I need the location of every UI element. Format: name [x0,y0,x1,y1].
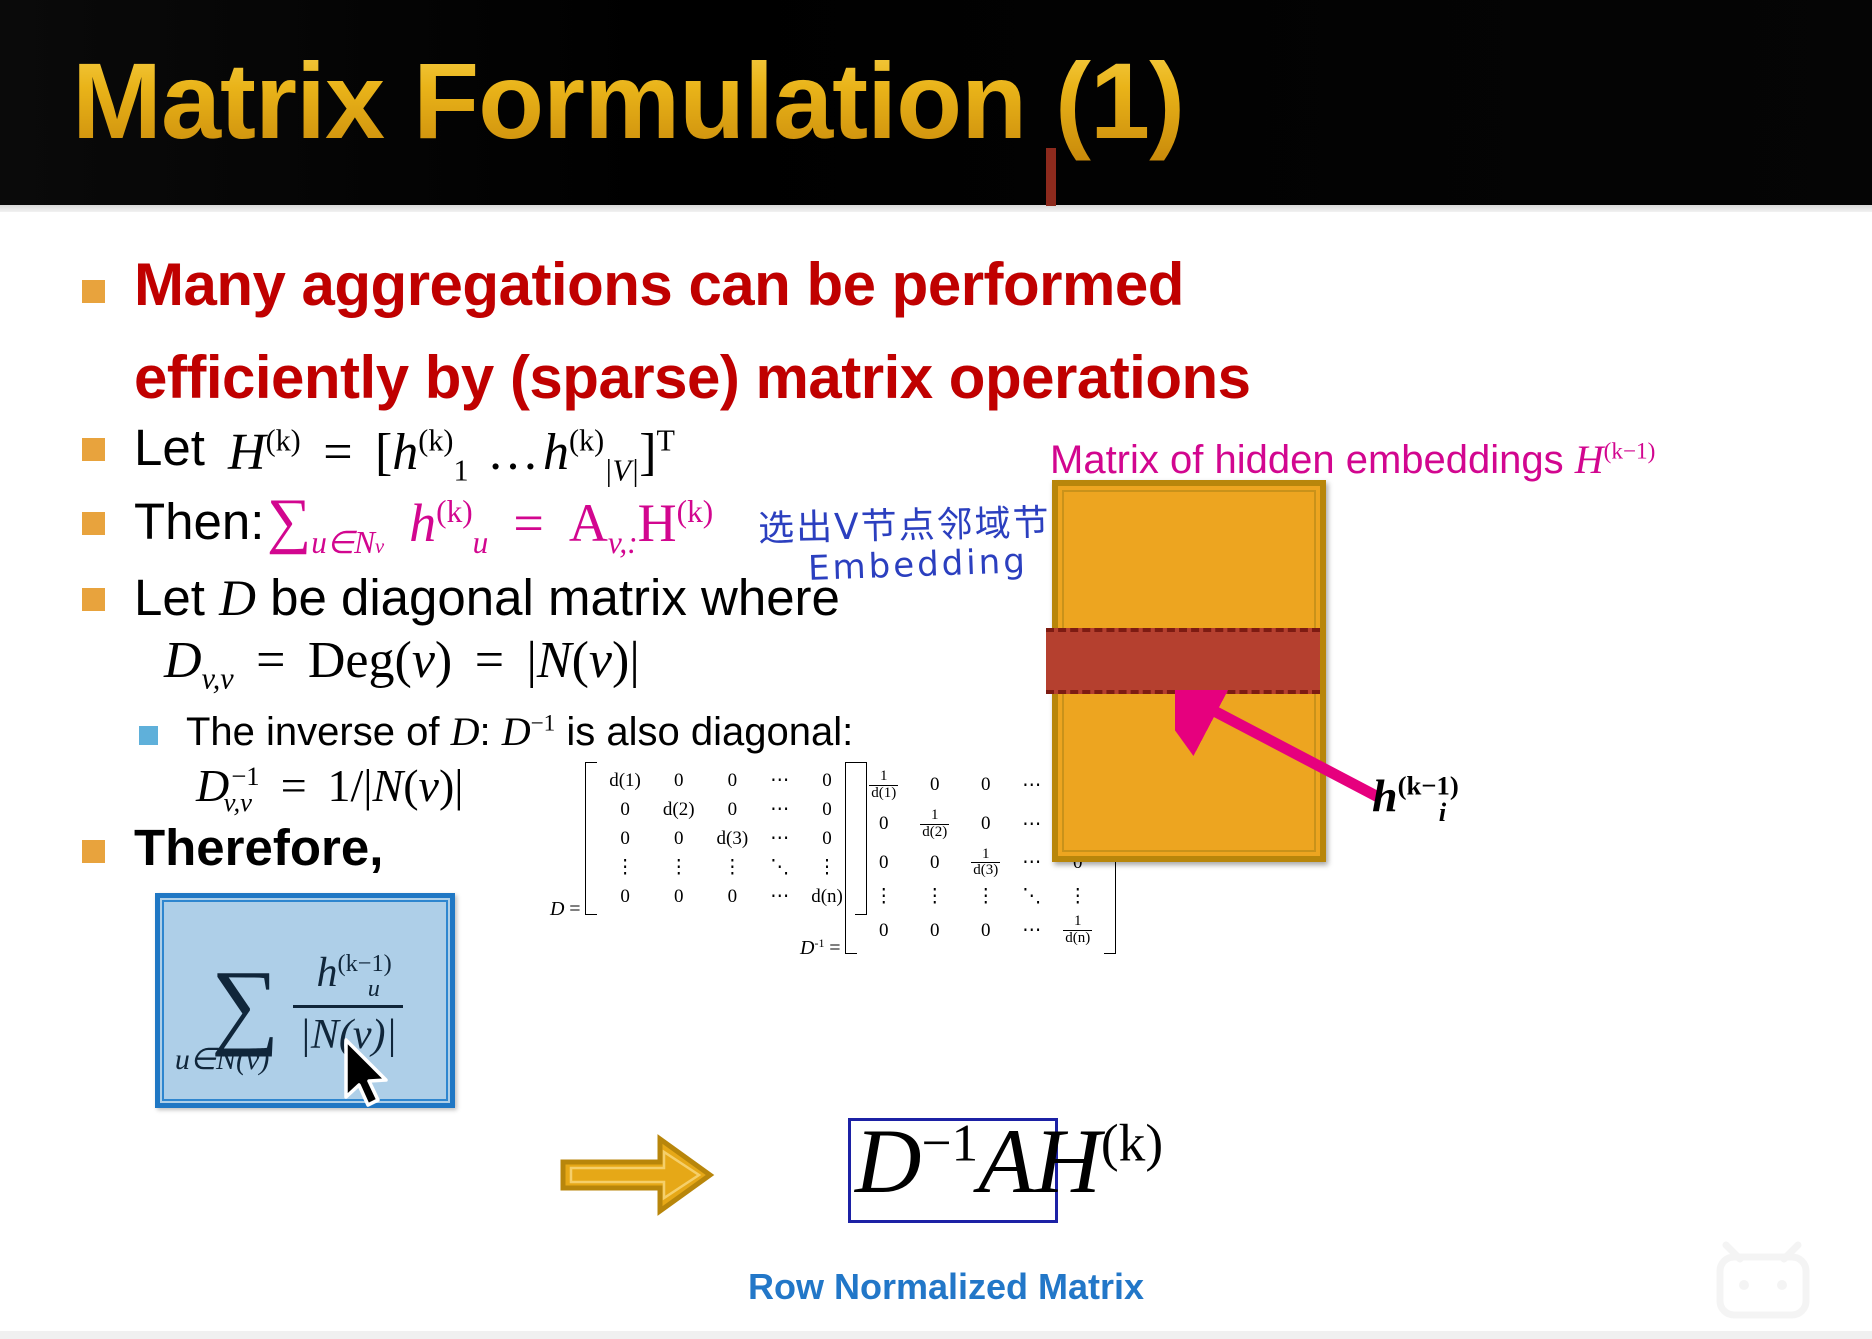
formula-bracket-open: [ [375,424,392,481]
sum-glyph: ∑ [211,950,279,1057]
matrix-row-highlight-left-cap [1046,148,1056,206]
result-D-sup: −1 [921,1112,978,1172]
sum-symbol: ∑ [267,487,311,555]
cell: 0 [858,911,909,950]
then-h-sub: u [473,525,489,560]
formula-h1-sub: 1 [453,453,468,487]
cell: ⋱ [1011,882,1052,911]
matrix-Dinv-equals: = [829,937,840,959]
matrix-embeddings-caption: Matrix of hidden embeddings H(k−1) [1050,436,1655,483]
formula-Dvv: Dv,v = Deg(v) = |N(v)| [164,630,640,696]
cell: ⋯ [759,766,800,795]
row-vector-label: h(k−1)i [1372,768,1446,828]
cell: d(3) [706,824,760,853]
cell: 0 [706,766,760,795]
inverse-of-D-text: The inverse of D: D−1 is also diagonal: [186,708,853,755]
formula-equals: = [323,424,352,481]
cell: 0 [858,805,909,844]
result-D: D [855,1110,921,1212]
cell-fraction: 1d(3) [960,844,1011,883]
then-H: H [638,493,677,553]
matrix-Dinv-superscript: -1 [814,936,824,950]
result-formula: D−1AH(k) [855,1108,1163,1214]
mouse-cursor-icon [340,1037,396,1111]
formula-H-superscript: (k) [266,424,301,458]
matrix-D-equals: = [569,898,580,920]
D-symbol-inline: D [219,571,256,627]
slide-canvas: Matrix Formulation (1) Many aggregations… [0,0,1872,1339]
cell: d(2) [652,795,706,824]
bullet-marker-1 [82,280,105,303]
then-h-sup: (k) [436,494,473,529]
frac-num: 1 [971,847,1000,864]
normalized-sum-formula: ∑ u∈N(v) h(k−1)u |N(v)| [172,914,442,1094]
cell: 0 [909,911,960,950]
row-label-h: h [1372,770,1398,821]
headline-line-1: Many aggregations can be performed [134,250,1184,321]
result-A: A [978,1110,1034,1212]
row-label-sup: (k−1) [1398,771,1459,801]
frac-den: d(2) [920,825,949,841]
cell: 0 [909,766,960,805]
caption-text: Matrix of hidden embeddings [1050,438,1564,482]
cell: 0 [909,844,960,883]
pink-arrow-icon [1175,690,1395,810]
result-H-sup: (k) [1101,1112,1163,1172]
let-label: Let [134,418,205,477]
cell: 0 [706,795,760,824]
cell: 0 [652,882,706,911]
bottom-divider [0,1331,1872,1339]
then-equals: = [513,493,543,553]
formula-bracket-close: ] [639,424,656,481]
frac-num: 1 [920,808,949,825]
frac-den: d(3) [971,863,1000,879]
cell: ⋯ [759,824,800,853]
cell: 0 [652,824,706,853]
formula-h2-sub: |V| [604,453,639,487]
cell: ⋯ [1011,805,1052,844]
cell: 0 [706,882,760,911]
then-H-sup: (k) [677,494,714,529]
row-normalized-caption: Row Normalized Matrix [748,1266,1144,1308]
formula-h2: h [543,424,569,481]
table-row: 0 0 0 ⋯ 1d(n) [858,911,1103,950]
bullet-marker-2 [82,438,105,461]
cell: 0 [960,911,1011,950]
bullet-marker-4 [82,588,105,611]
cell: ⋯ [759,882,800,911]
sum-subscript-v: v [375,536,384,558]
bullet-marker-5 [82,840,105,863]
cell: ⋮ [858,882,909,911]
sum-range-label: u∈N(v) [175,1048,269,1072]
therefore-label: Therefore, [134,818,383,877]
cell: ⋯ [1011,844,1052,883]
formula-H-symbol: H [228,424,266,481]
sum-big-symbol: ∑ u∈N(v) [211,966,279,1043]
cell-fraction: 1d(n) [1052,911,1103,950]
cell: ⋮ [652,853,706,882]
cell: ⋮ [909,882,960,911]
cell: 0 [598,824,652,853]
cell: 0 [960,766,1011,805]
matrix-D-label: D [550,898,564,920]
cell: ⋮ [706,853,760,882]
cell: 0 [652,766,706,795]
cell: ⋯ [1011,911,1052,950]
matrix-Dinv-label: D [800,937,814,959]
fraction-numerator: h(k−1)u [293,949,403,1007]
bullet-marker-3 [82,512,105,535]
let-D-text: Let D be diagonal matrix where [134,568,840,628]
num-h-sub: u [368,975,380,1002]
then-A-sub: v,: [608,525,638,560]
sum-subscript: u∈N [311,525,375,560]
cell: 0 [598,795,652,824]
page-title: Matrix Formulation (1) [72,38,1184,163]
formula-ellipsis: … [487,424,539,481]
frac-den: d(1) [869,786,898,802]
frac-num: 1 [869,769,898,786]
then-A: A [569,493,608,553]
cell: ⋮ [960,882,1011,911]
caption-H-sup: (k−1) [1604,439,1656,465]
formula-h1-sup: (k) [418,424,453,458]
then-h: h [409,493,436,553]
num-h-sup: (k−1) [337,950,391,977]
formula-H-definition: H(k) = [h(k)1 …h(k)|V|]T [228,422,675,488]
cell: 0 [858,844,909,883]
result-H: H [1034,1110,1100,1212]
matrix-row-highlight [1046,628,1320,694]
formula-h1: h [392,424,418,481]
cell: ⋯ [759,795,800,824]
headline-line-2: efficiently by (sparse) matrix operation… [134,343,1251,414]
formula-h2-sup: (k) [569,424,604,458]
frac-num: 1 [1063,914,1092,931]
formula-transpose: T [657,424,675,458]
cell-fraction: 1d(1) [858,766,909,805]
formula-Dinv-vv: D−1v,v = 1/|N(v)| [196,758,463,818]
cell: ⋮ [598,853,652,882]
cell: ⋮ [1052,882,1103,911]
bilibili-watermark-icon [1716,1239,1836,1325]
cell: d(1) [598,766,652,795]
bullet-marker-sub-1 [139,726,158,745]
caption-H: H [1575,437,1604,482]
normalized-sum-box[interactable]: ∑ u∈N(v) h(k−1)u |N(v)| [155,893,455,1108]
cell: ⋯ [1011,766,1052,805]
num-h: h [316,950,337,996]
row-label-sub: i [1439,797,1446,827]
cell: 0 [960,805,1011,844]
cell-fraction: 1d(2) [909,805,960,844]
table-row: ⋮ ⋮ ⋮ ⋱ ⋮ [858,882,1103,911]
orange-arrow-icon [560,1132,715,1218]
formula-then: ∑u∈Nv h(k)u = Av,:H(k) [267,486,713,561]
cell: ⋱ [759,853,800,882]
banner-divider [0,205,1872,212]
cell: 0 [598,882,652,911]
then-label: Then: [134,492,264,551]
frac-den: d(n) [1063,931,1092,947]
handwriting-embedding-annotation: Embedding [807,541,1028,589]
